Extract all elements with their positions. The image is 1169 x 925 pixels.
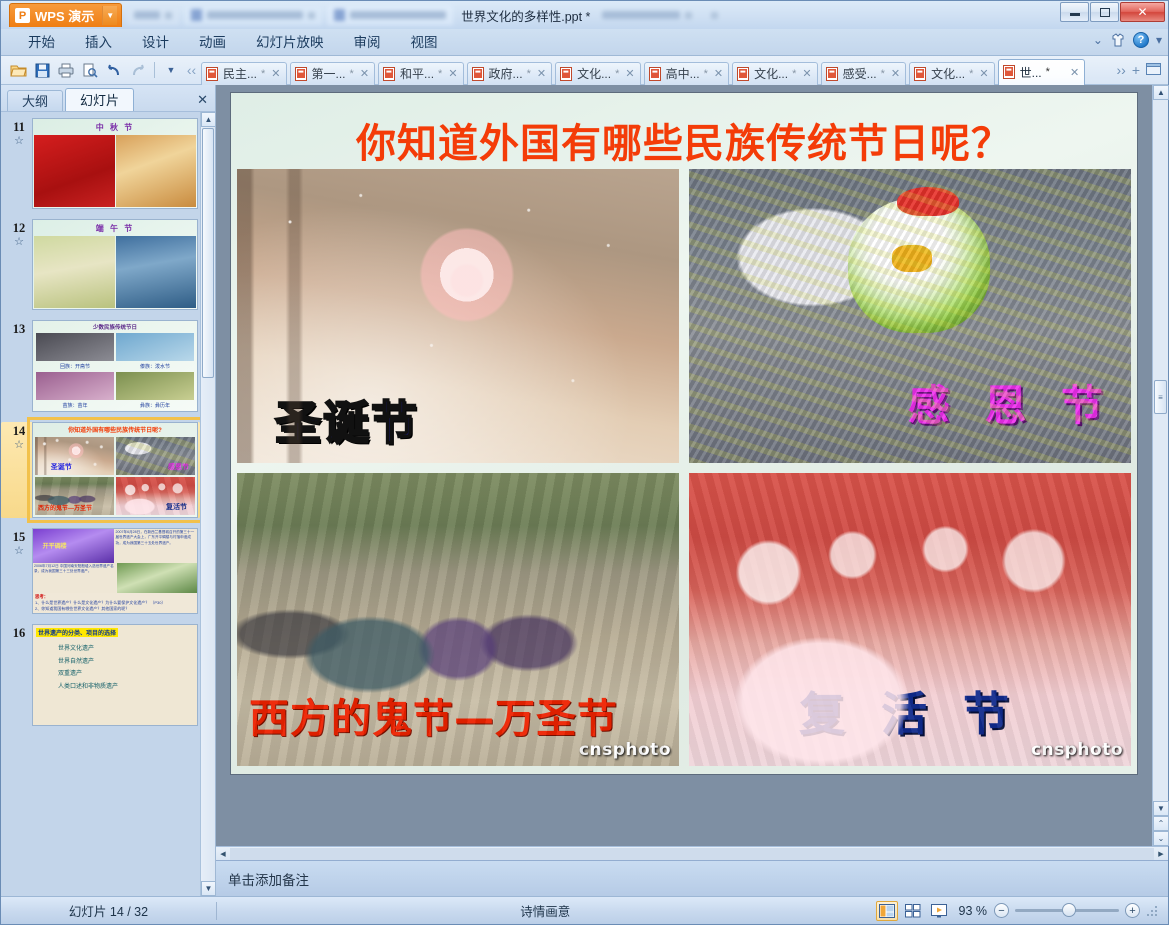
close-icon[interactable]: ✕ xyxy=(448,67,457,80)
caption-thanksgiving[interactable]: 感 恩 节 xyxy=(908,372,1113,433)
print-icon[interactable] xyxy=(55,59,77,81)
tab-slides[interactable]: 幻灯片 xyxy=(65,88,134,111)
previous-slide-icon[interactable]: ⌃ xyxy=(1153,816,1169,831)
close-icon[interactable]: ✕ xyxy=(360,67,369,80)
document-tab-7[interactable]: 文化... * ✕ xyxy=(732,62,818,85)
mini-caption: 苗族：苗年 xyxy=(35,402,115,409)
mini-caption: 西方的鬼节—万圣节 xyxy=(38,503,92,512)
minimize-button[interactable] xyxy=(1060,2,1089,22)
background-tab[interactable] xyxy=(704,5,725,25)
ribbon-tab-review[interactable]: 审阅 xyxy=(341,30,394,55)
title-bar: P WPS 演示 ▼ 世界文化的多样性.ppt * xyxy=(1,1,1168,29)
document-tab-label: 第一... xyxy=(312,65,346,82)
zoom-out-button[interactable]: − xyxy=(994,903,1009,918)
mini-slide: 开平碉楼 2007年6月28日，在新西兰基督城召开的第三十一届世界遗产大会上，广… xyxy=(33,529,197,613)
document-tab-6[interactable]: 高中... * ✕ xyxy=(644,62,730,85)
animation-icon: ☆ xyxy=(6,439,32,451)
document-tab-label: 高中... xyxy=(666,65,700,82)
notes-placeholder: 单击添加备注 xyxy=(228,869,309,889)
thumbnail-meta: 12 ☆ xyxy=(6,219,32,248)
theme-name: 诗情画意 xyxy=(520,901,570,920)
wps-presentation-window: P WPS 演示 ▼ 世界文化的多样性.ppt * xyxy=(0,0,1169,925)
print-preview-icon[interactable] xyxy=(79,59,101,81)
document-tab-4[interactable]: 政府... * ✕ xyxy=(467,62,553,85)
mini-slide: 端 午 节 xyxy=(33,220,197,309)
mini-caption: 世界自然遗产 xyxy=(58,656,194,669)
background-document-tabs xyxy=(122,5,453,25)
watermark-cnsphoto: cnsphoto xyxy=(579,740,671,760)
thumbnail-preview[interactable]: 少数民族传统节日 回族：开斋节 傣族：泼水节 xyxy=(32,320,198,412)
list-item[interactable]: 15 ☆ 开平碉楼 2007年6月28日，在新西兰基督城召开的第三十一届世界遗产… xyxy=(1,528,200,614)
mini-caption: 感恩节 xyxy=(168,462,189,472)
scrollbar-thumb[interactable] xyxy=(202,128,214,378)
powerpoint-file-icon xyxy=(826,67,839,81)
parade-balloon-icon xyxy=(848,198,989,333)
mini-title: 世界遗产的分类、项目的选择 xyxy=(36,628,118,637)
chevron-down-icon[interactable]: ▼ xyxy=(102,6,117,25)
ribbon-right-tools: ⌄ ? ▾ xyxy=(1093,32,1162,48)
mini-slide: 少数民族传统节日 回族：开斋节 傣族：泼水节 xyxy=(33,321,197,411)
current-slide[interactable]: 你知道外国有哪些民族传统节日呢？ 圣诞节 感 恩 节 xyxy=(231,93,1137,774)
mini-slide: 中 秋 节 xyxy=(33,119,197,208)
powerpoint-file-icon xyxy=(1003,65,1016,79)
ribbon-tab-strip: 开始 插入 设计 动画 幻灯片放映 审阅 视图 ⌄ ? ▾ xyxy=(1,29,1168,56)
document-tab-10-active[interactable]: 世... * ✕ xyxy=(998,59,1086,85)
status-left: 幻灯片 14 / 32 xyxy=(1,901,216,920)
scroll-right-icon[interactable]: ▶ xyxy=(1154,847,1168,861)
mini-slide: 你知道外国有哪些民族传统节日呢? 圣诞节 感恩节 西方的 xyxy=(33,423,197,517)
status-right: 93 % − + xyxy=(874,901,1169,921)
slideshow-button[interactable] xyxy=(928,901,950,921)
background-tab[interactable] xyxy=(184,5,322,25)
slide-number: 12 xyxy=(6,221,32,236)
scroll-down-icon[interactable]: ▼ xyxy=(1153,801,1169,816)
scroll-left-icon[interactable]: ◀ xyxy=(216,847,230,861)
scrollbar-track[interactable] xyxy=(230,848,1154,860)
document-tab-label: 感受... xyxy=(843,65,877,82)
slide-vertical-scrollbar[interactable]: ▲ ≡ ▼ ⌃ ⌄ xyxy=(1152,85,1168,846)
slide-photo-grid: 圣诞节 感 恩 节 西方的鬼节—万圣节 cnsphoto xyxy=(237,169,1131,766)
status-bar: 幻灯片 14 / 32 诗情画意 93 % − + xyxy=(1,896,1168,924)
document-tab-label: 世... xyxy=(1020,64,1042,81)
redo-icon[interactable] xyxy=(127,59,149,81)
modified-indicator: * xyxy=(615,68,619,80)
list-item[interactable]: 13 少数民族传统节日 回族：开斋节 xyxy=(1,320,200,412)
close-pane-icon[interactable]: ✕ xyxy=(197,92,208,108)
modified-indicator: * xyxy=(969,68,973,80)
thumbnail-meta: 15 ☆ xyxy=(6,528,32,557)
mini-caption: 回族：开斋节 xyxy=(35,363,115,370)
thumbnail-scrollbar[interactable]: ▲ ▼ xyxy=(200,112,215,896)
animation-icon: ☆ xyxy=(6,236,32,248)
photo-christmas[interactable]: 圣诞节 xyxy=(237,169,679,463)
editor-area: 你知道外国有哪些民族传统节日呢？ 圣诞节 感 恩 节 xyxy=(216,85,1168,896)
mini-slide: 世界遗产的分类、项目的选择 世界文化遗产 世界自然遗产 双重遗产 人类口述和非物… xyxy=(33,625,197,725)
thumbnail-preview[interactable]: 端 午 节 xyxy=(32,219,198,310)
toolbar-divider xyxy=(154,62,155,78)
mini-caption: 双重遗产 xyxy=(58,668,194,681)
powerpoint-file-icon xyxy=(737,67,750,81)
document-tab-label: 民主... xyxy=(223,65,257,82)
document-tab-label: 政府... xyxy=(489,65,523,82)
doc-tabs-scroll-right[interactable]: ›› xyxy=(1116,62,1125,78)
close-icon[interactable]: ✕ xyxy=(979,67,988,80)
zoom-slider-handle[interactable] xyxy=(1062,903,1076,917)
document-tab-3[interactable]: 和平... * ✕ xyxy=(378,62,464,85)
active-document-title: 世界文化的多样性.ppt * xyxy=(461,6,590,25)
powerpoint-file-icon xyxy=(295,67,308,81)
mini-title: 你知道外国有哪些民族传统节日呢? xyxy=(33,423,197,435)
mini-title: 端 午 节 xyxy=(33,220,197,236)
slide-number: 16 xyxy=(6,626,32,641)
powerpoint-file-icon xyxy=(914,67,927,81)
background-tab[interactable] xyxy=(327,5,453,25)
balloon-comb-icon xyxy=(897,187,959,216)
list-item-selected[interactable]: 14 ☆ 你知道外国有哪些民族传统节日呢? 圣诞节 xyxy=(1,422,200,518)
ribbon-tab-start[interactable]: 开始 xyxy=(15,30,68,55)
animation-icon: ☆ xyxy=(6,545,32,557)
list-item[interactable]: 12 ☆ 端 午 节 xyxy=(1,219,200,310)
background-tab[interactable] xyxy=(127,5,179,25)
caret-down-icon[interactable]: ▾ xyxy=(1156,33,1162,47)
customize-icon[interactable]: ▼ xyxy=(160,59,182,81)
mini-caption: 圣诞节 xyxy=(51,462,72,472)
slide-number: 13 xyxy=(6,322,32,337)
powerpoint-file-icon xyxy=(383,67,396,81)
watermark-cnsphoto: cnsphoto xyxy=(1031,740,1123,760)
background-document-tabs-right xyxy=(590,5,725,25)
mini-caption: 人类口述和非物质遗产 xyxy=(58,681,194,694)
maximize-button[interactable] xyxy=(1090,2,1119,22)
thumbnail-column: 11 ☆ 中 秋 节 xyxy=(1,112,200,896)
document-tab-label: 和平... xyxy=(400,65,434,82)
ribbon-tab-insert[interactable]: 插入 xyxy=(72,30,125,55)
caption-easter[interactable]: 复 活 节 xyxy=(799,678,1019,744)
thumbnail-meta: 11 ☆ xyxy=(6,118,32,147)
caption-christmas[interactable]: 圣诞节 xyxy=(275,387,419,453)
wps-app-badge[interactable]: P WPS 演示 ▼ xyxy=(9,3,122,27)
photo-halloween[interactable]: 西方的鬼节—万圣节 cnsphoto xyxy=(237,473,679,767)
mini-caption: 复活节 xyxy=(166,502,187,512)
quick-access-and-doc-tabs: ▼ ‹‹ 民主... * ✕ 第一... * ✕ 和平... * ✕ xyxy=(1,56,1168,85)
chevron-down-icon[interactable]: ⌄ xyxy=(1093,33,1103,47)
photo-easter[interactable]: 复 活 节 cnsphoto xyxy=(689,473,1131,767)
help-icon[interactable]: ? xyxy=(1133,32,1149,48)
modified-indicator: * xyxy=(1046,66,1050,78)
animation-icon: ☆ xyxy=(6,135,32,147)
slide-number: 11 xyxy=(6,120,32,135)
thumbnail-meta: 13 xyxy=(6,320,32,337)
app-name-label: WPS 演示 xyxy=(35,6,94,25)
close-icon[interactable]: ✕ xyxy=(537,67,546,80)
ribbon-tab-slideshow[interactable]: 幻灯片放映 xyxy=(243,30,337,55)
mini-title: 开平碉楼 xyxy=(43,541,67,550)
main-body: 大纲 幻灯片 ✕ 11 ☆ 中 秋 节 xyxy=(1,85,1168,896)
mini-caption: 傣族：泼水节 xyxy=(115,363,195,370)
thumbnail-preview[interactable]: 你知道外国有哪些民族传统节日呢? 圣诞节 感恩节 西方的 xyxy=(32,422,198,518)
mini-caption: 世界文化遗产 xyxy=(58,643,194,656)
window-controls: ✕ xyxy=(1060,2,1165,22)
modified-indicator: * xyxy=(792,68,796,80)
modified-indicator: * xyxy=(438,68,442,80)
doc-tabs-scroll-left[interactable]: ‹‹ xyxy=(182,62,201,78)
powerpoint-file-icon xyxy=(472,67,485,81)
next-slide-icon[interactable]: ⌄ xyxy=(1153,831,1169,846)
slides-pane: 大纲 幻灯片 ✕ 11 ☆ 中 秋 节 xyxy=(1,85,216,896)
balloon-beak-icon xyxy=(892,245,932,271)
save-icon[interactable] xyxy=(31,59,53,81)
scrollbar-thumb[interactable]: ≡ xyxy=(1154,380,1167,414)
powerpoint-file-icon xyxy=(560,67,573,81)
slide-counter: 幻灯片 14 / 32 xyxy=(69,901,148,920)
document-tab-9[interactable]: 文化... * ✕ xyxy=(909,62,995,85)
undo-icon[interactable] xyxy=(103,59,125,81)
mini-caption: 彝族：彝历年 xyxy=(115,402,195,409)
doc-tabs-right-controls: ›› + xyxy=(1112,62,1168,78)
close-icon[interactable]: ✕ xyxy=(271,67,280,80)
slide-canvas[interactable]: 你知道外国有哪些民族传统节日呢？ 圣诞节 感 恩 节 xyxy=(216,85,1152,846)
quick-access-toolbar: ▼ xyxy=(1,59,182,81)
document-tab-label: 文化... xyxy=(931,65,965,82)
document-tab-label: 文化... xyxy=(577,65,611,82)
thumbnail-preview[interactable]: 世界遗产的分类、项目的选择 世界文化遗产 世界自然遗产 双重遗产 人类口述和非物… xyxy=(32,624,198,726)
list-item[interactable]: 16 世界遗产的分类、项目的选择 世界文化遗产 世界自然遗产 双重遗产 人类口述… xyxy=(1,624,200,726)
thumbnail-meta: 16 xyxy=(6,624,32,641)
slide-thumbnail-list[interactable]: 11 ☆ 中 秋 节 xyxy=(1,111,215,896)
tab-outline[interactable]: 大纲 xyxy=(7,90,63,111)
status-theme: 诗情画意 xyxy=(217,901,874,920)
caption-halloween[interactable]: 西方的鬼节—万圣节 xyxy=(249,686,618,744)
document-tab-2[interactable]: 第一... * ✕ xyxy=(290,62,376,85)
close-icon[interactable]: ✕ xyxy=(891,67,900,80)
ribbon-tab-design[interactable]: 设计 xyxy=(129,30,182,55)
scroll-up-icon[interactable]: ▲ xyxy=(1153,85,1169,100)
zoom-in-button[interactable]: + xyxy=(1125,903,1140,918)
document-tab-bar: 民主... * ✕ 第一... * ✕ 和平... * ✕ 政府... * ✕ xyxy=(201,56,1112,85)
modified-indicator: * xyxy=(261,68,265,80)
thumbnail-meta: 14 ☆ xyxy=(6,422,32,451)
slide-horizontal-scrollbar[interactable]: ◀ ▶ xyxy=(216,846,1168,860)
open-icon[interactable] xyxy=(7,59,29,81)
modified-indicator: * xyxy=(527,68,531,80)
mini-title: 少数民族传统节日 xyxy=(35,323,195,331)
thumbnail-preview[interactable]: 中 秋 节 xyxy=(32,118,198,209)
list-item[interactable]: 11 ☆ 中 秋 节 xyxy=(1,118,200,209)
wps-logo-icon: P xyxy=(15,8,30,23)
resize-grip[interactable] xyxy=(1146,905,1158,917)
background-tab[interactable] xyxy=(595,5,699,25)
close-icon[interactable]: ✕ xyxy=(714,67,723,80)
new-tab-button[interactable]: + xyxy=(1132,62,1140,78)
modified-indicator: * xyxy=(881,68,885,80)
mini-caption: 2、你知道我国有哪些世界文化遗产？其他国家的呢？ xyxy=(35,606,195,612)
slide-number: 15 xyxy=(6,530,32,545)
powerpoint-file-icon xyxy=(206,67,219,81)
normal-view-button[interactable] xyxy=(876,901,898,921)
slide-sorter-button[interactable] xyxy=(902,901,924,921)
document-tab-5[interactable]: 文化... * ✕ xyxy=(555,62,641,85)
photo-thanksgiving[interactable]: 感 恩 节 xyxy=(689,169,1131,463)
ribbon-tab-animation[interactable]: 动画 xyxy=(186,30,239,55)
document-tab-label: 文化... xyxy=(754,65,788,82)
close-button[interactable]: ✕ xyxy=(1120,2,1165,22)
zoom-slider[interactable] xyxy=(1015,909,1119,912)
document-tab-1[interactable]: 民主... * ✕ xyxy=(201,62,287,85)
pane-tab-strip: 大纲 幻灯片 ✕ xyxy=(1,85,215,111)
close-icon[interactable]: ✕ xyxy=(625,67,634,80)
mini-title: 中 秋 节 xyxy=(33,119,197,135)
scroll-up-icon[interactable]: ▲ xyxy=(201,112,215,127)
scroll-down-icon[interactable]: ▼ xyxy=(201,881,215,896)
powerpoint-file-icon xyxy=(649,67,662,81)
slide-title[interactable]: 你知道外国有哪些民族传统节日呢？ xyxy=(231,111,1137,169)
close-icon[interactable]: ✕ xyxy=(1070,66,1079,79)
slide-viewport: 你知道外国有哪些民族传统节日呢？ 圣诞节 感 恩 节 xyxy=(216,85,1168,846)
modified-indicator: * xyxy=(704,68,708,80)
zoom-level-label: 93 % xyxy=(959,904,988,918)
slide-number: 14 xyxy=(6,424,32,439)
notes-pane[interactable]: 单击添加备注 xyxy=(216,860,1168,896)
close-icon[interactable]: ✕ xyxy=(802,67,811,80)
modified-indicator: * xyxy=(350,68,354,80)
skin-icon[interactable] xyxy=(1110,33,1126,48)
ribbon-tab-view[interactable]: 视图 xyxy=(398,30,451,55)
window-list-button[interactable] xyxy=(1146,62,1161,78)
document-tab-8[interactable]: 感受... * ✕ xyxy=(821,62,907,85)
thumbnail-preview[interactable]: 开平碉楼 2007年6月28日，在新西兰基督城召开的第三十一届世界遗产大会上，广… xyxy=(32,528,198,614)
